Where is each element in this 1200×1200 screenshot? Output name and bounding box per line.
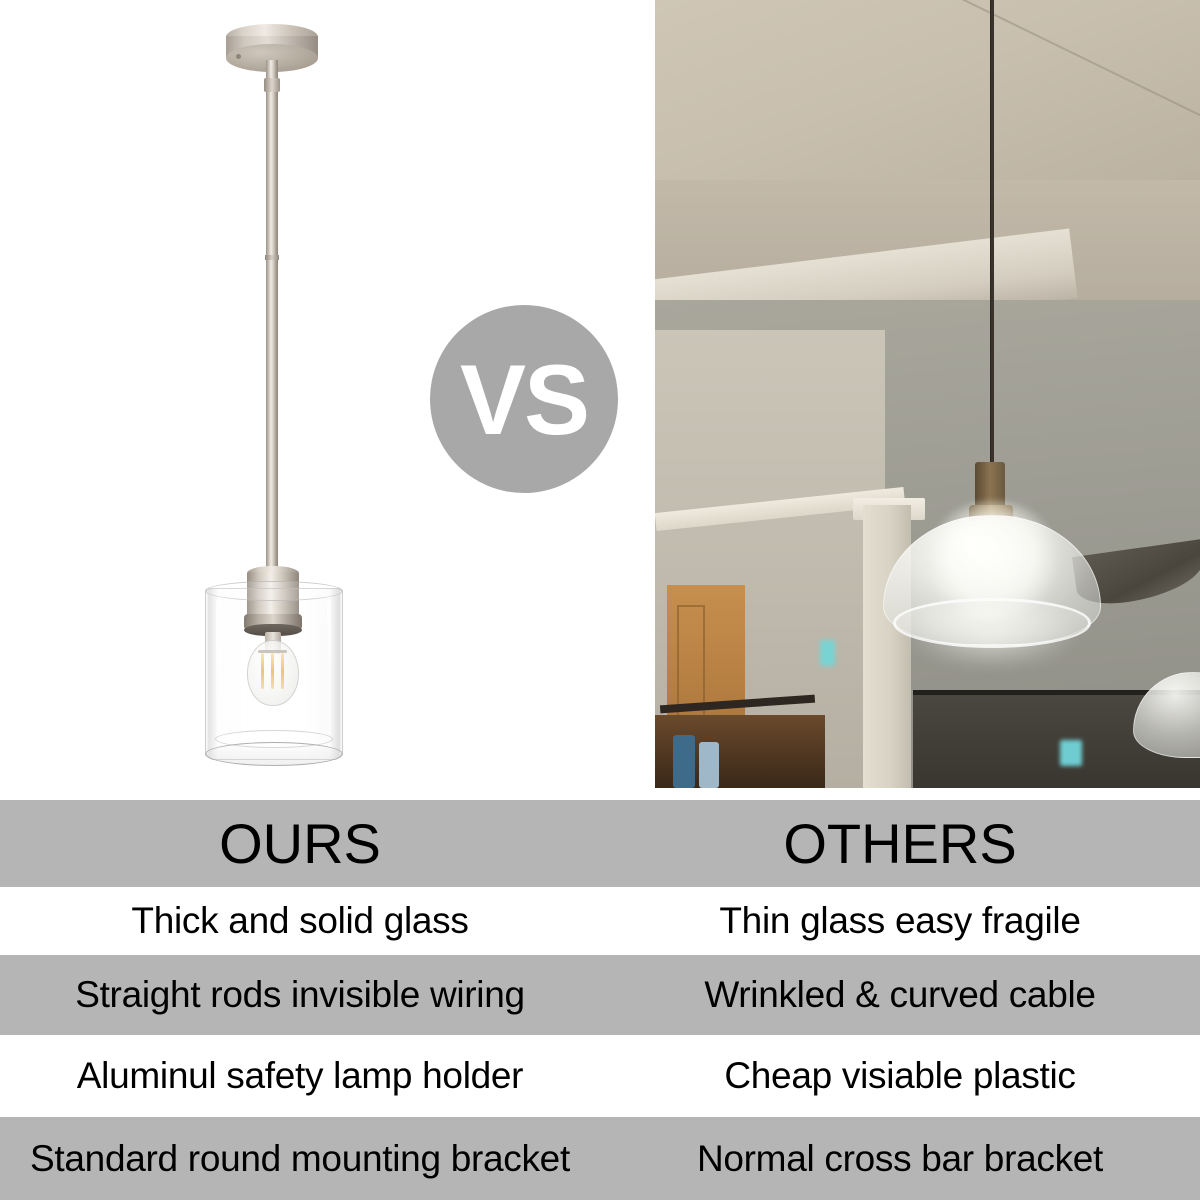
straight-rod-stem-icon <box>266 60 278 580</box>
comparison-table: OURS OTHERS Thick and solid glass Thin g… <box>0 800 1200 1200</box>
feature-text: Aluminul safety lamp holder <box>77 1055 523 1097</box>
filament-icon <box>261 653 264 689</box>
header-label-ours: OURS <box>219 811 381 876</box>
table-header-row: OURS OTHERS <box>0 800 1200 887</box>
feature-cell-others: Cheap visiable plastic <box>600 1035 1200 1117</box>
feature-text: Cheap visiable plastic <box>724 1055 1075 1097</box>
feature-text: Normal cross bar bracket <box>697 1138 1103 1180</box>
glass-highlight-left-icon <box>216 600 221 745</box>
feature-cell-ours: Thick and solid glass <box>0 887 600 955</box>
feature-text: Straight rods invisible wiring <box>75 974 525 1016</box>
feature-text: Thick and solid glass <box>131 900 468 942</box>
feature-cell-others: Wrinkled & curved cable <box>600 955 1200 1035</box>
filament-icon <box>281 653 284 689</box>
header-label-others: OTHERS <box>783 811 1016 876</box>
feature-text: Wrinkled & curved cable <box>704 974 1095 1016</box>
rod-collar-icon <box>264 78 280 92</box>
feature-text: Standard round mounting bracket <box>30 1138 570 1180</box>
column-header-others: OTHERS <box>600 800 1200 887</box>
feature-cell-ours: Standard round mounting bracket <box>0 1117 600 1200</box>
feature-text: Thin glass easy fragile <box>719 900 1080 942</box>
white-column <box>863 505 911 788</box>
feature-cell-others: Thin glass easy fragile <box>600 887 1200 955</box>
dome-rim-icon <box>893 598 1091 648</box>
table-row: Aluminul safety lamp holder Cheap visiab… <box>0 1035 1200 1117</box>
vs-label: VS <box>460 350 588 449</box>
glass-shade-bottom-rim-icon <box>205 742 343 766</box>
others-product-photo <box>655 0 1200 788</box>
counter-item <box>673 735 695 788</box>
glass-highlight-right-icon <box>327 600 331 745</box>
comparison-infographic: VS <box>0 0 1200 1200</box>
filament-icon <box>271 653 274 689</box>
counter-item <box>699 742 719 788</box>
rod-joint-icon <box>265 255 279 260</box>
cyan-light-reflection <box>820 640 835 666</box>
feature-cell-others: Normal cross bar bracket <box>600 1117 1200 1200</box>
column-header-ours: OURS <box>0 800 600 887</box>
vs-badge: VS <box>430 305 618 493</box>
cable-highlight <box>991 0 994 470</box>
table-row: Straight rods invisible wiring Wrinkled … <box>0 955 1200 1035</box>
cyan-light-reflection <box>1060 740 1082 766</box>
feature-cell-ours: Aluminul safety lamp holder <box>0 1035 600 1117</box>
table-row: Standard round mounting bracket Normal c… <box>0 1117 1200 1200</box>
hero-section: VS <box>0 0 1200 795</box>
table-row: Thick and solid glass Thin glass easy fr… <box>0 887 1200 955</box>
feature-cell-ours: Straight rods invisible wiring <box>0 955 600 1035</box>
